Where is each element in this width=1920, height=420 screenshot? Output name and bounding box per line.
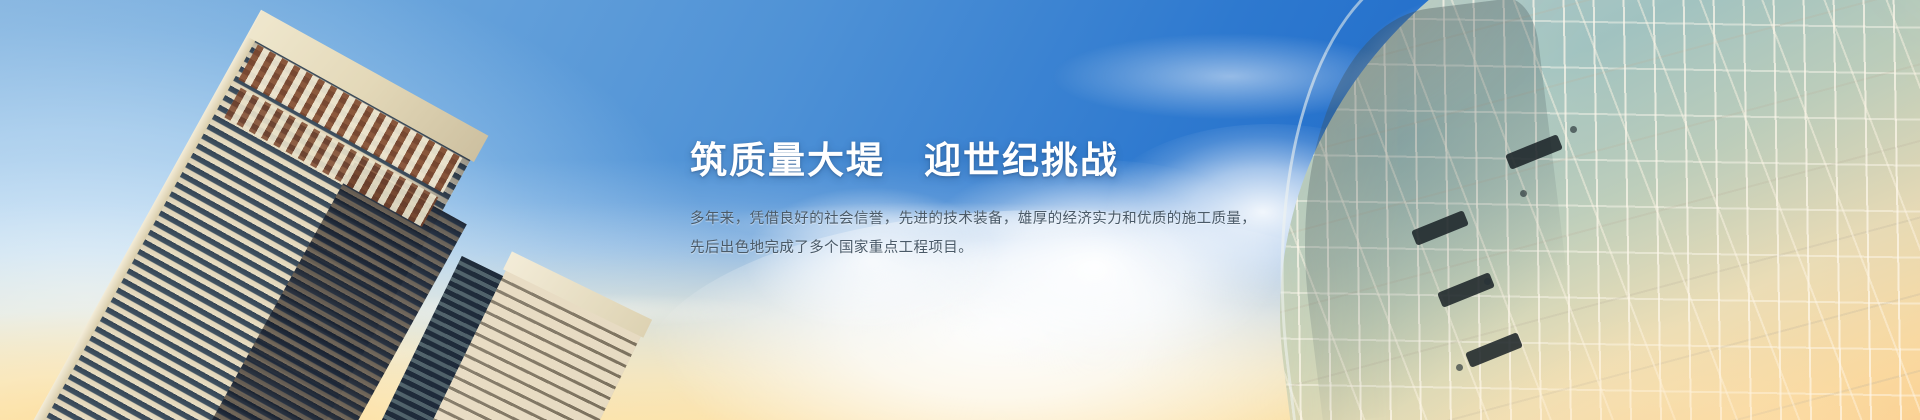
- right-glass-tower: [1270, 0, 1920, 420]
- banner-subtitle: 多年来，凭借良好的社会信誉，先进的技术装备，雄厚的经济实力和优质的施工质量， 先…: [690, 205, 1330, 264]
- banner-copy: 筑质量大堤 迎世纪挑战 多年来，凭借良好的社会信誉，先进的技术装备，雄厚的经济实…: [690, 140, 1330, 264]
- facade-anchor-dot: [1570, 126, 1577, 133]
- facade-anchor-dot: [1520, 190, 1527, 197]
- banner-subtitle-line: 先后出色地完成了多个国家重点工程项目。: [690, 234, 1330, 264]
- facade-anchor-dot: [1484, 278, 1491, 285]
- banner-headline: 筑质量大堤 迎世纪挑战: [690, 140, 1330, 183]
- banner-subtitle-line: 多年来，凭借良好的社会信誉，先进的技术装备，雄厚的经济实力和优质的施工质量，: [690, 205, 1330, 235]
- hero-banner: 筑质量大堤 迎世纪挑战 多年来，凭借良好的社会信誉，先进的技术装备，雄厚的经济实…: [0, 0, 1920, 420]
- facade-anchor-dot: [1456, 364, 1463, 371]
